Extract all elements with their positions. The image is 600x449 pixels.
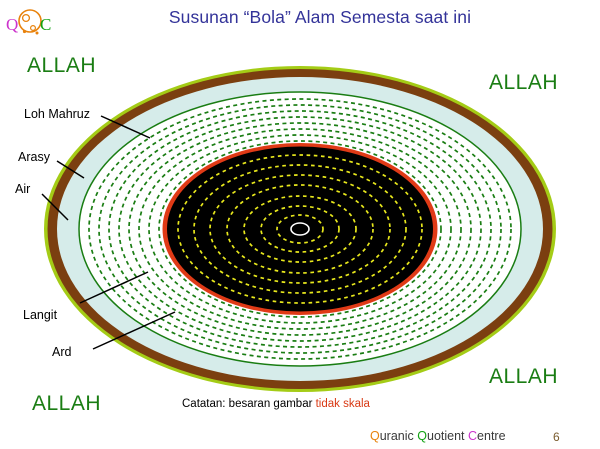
allah-label-bottom-left: ALLAH (32, 392, 101, 416)
footer-brand: Quranic Quotient Centre (370, 429, 506, 443)
allah-label-top-left: ALLAH (27, 54, 96, 78)
callout-label-arasy: Arasy (18, 150, 50, 164)
scale-note-highlight: tidak skala (316, 398, 370, 410)
slide-canvas: Q C Susunan “Bola” Alam Semesta saat ini (0, 0, 600, 449)
footer-c1: C (468, 429, 477, 443)
allah-label-top-right: ALLAH (489, 71, 558, 95)
scale-note: Catatan: besaran gambar tidak skala (182, 398, 370, 410)
center-ellipse (291, 223, 309, 235)
footer-rest1: uranic (380, 429, 418, 443)
callout-label-ard: Ard (52, 345, 71, 359)
scale-note-prefix: Catatan: besaran gambar (182, 398, 316, 410)
callout-label-air: Air (15, 182, 30, 196)
footer-q2: Q (417, 429, 427, 443)
allah-label-bottom-right: ALLAH (489, 365, 558, 389)
callout-label-langit: Langit (23, 308, 57, 322)
page-number: 6 (553, 430, 560, 444)
footer-rest3: entre (477, 429, 506, 443)
footer-q1: Q (370, 429, 380, 443)
callout-label-loh-mahruz: Loh Mahruz (24, 107, 90, 121)
footer-rest2: uotient (427, 429, 468, 443)
